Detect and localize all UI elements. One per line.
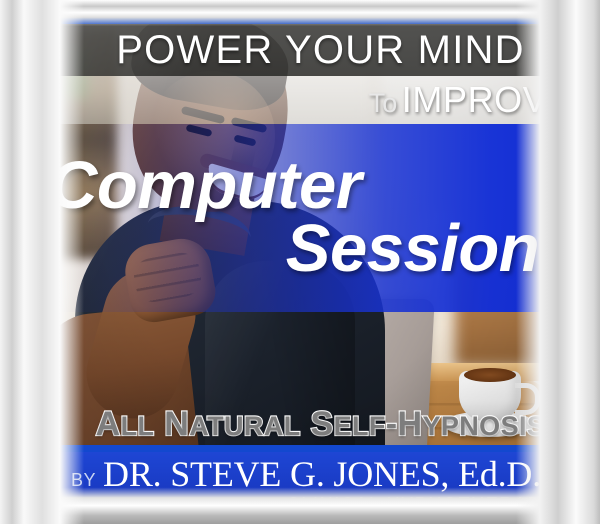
subheadline-band: To IMPROVE	[55, 76, 586, 124]
topic-line-1: Computer	[55, 155, 361, 218]
cd-jewel-case: HYPNOSIS TO CHANGE YOUR LIFE...	[0, 0, 600, 524]
byline-prefix: BY	[71, 471, 96, 489]
subheadline-small: To	[369, 88, 398, 118]
cd-spine: HYPNOSIS TO CHANGE YOUR LIFE...	[4, 9, 51, 515]
headline-band: POWER YOUR MIND	[55, 24, 586, 76]
topic-line-2: Sessions	[286, 218, 576, 281]
case-bottom-rail	[0, 501, 600, 524]
byline-author-name: DR. STEVE G. JONES, Ed.D.	[103, 456, 541, 492]
spine-text-light: HYPNOSIS TO	[14, 303, 40, 461]
case-right-rail	[578, 0, 600, 524]
case-top-rail	[0, 0, 600, 15]
spine-text-bold: CHANGE YOUR LIFE...	[14, 63, 40, 303]
tagline-band: ALL NATURAL SELF-HYPNOSIS	[55, 400, 586, 448]
topic-panel: Computer Sessions	[55, 124, 586, 312]
cd-cover-artwork: POWER YOUR MIND To IMPROVE Computer Sess…	[55, 11, 586, 511]
subheadline-text: To IMPROVE	[369, 82, 572, 118]
byline: BY DR. STEVE G. JONES, Ed.D.	[71, 456, 574, 492]
headline-text: POWER YOUR MIND	[116, 30, 524, 70]
divider-blue-bar	[55, 445, 586, 452]
tagline-text: ALL NATURAL SELF-HYPNOSIS	[96, 407, 546, 441]
spine-text: HYPNOSIS TO CHANGE YOUR LIFE...	[16, 63, 39, 461]
subheadline-large: IMPROVE	[402, 79, 572, 120]
